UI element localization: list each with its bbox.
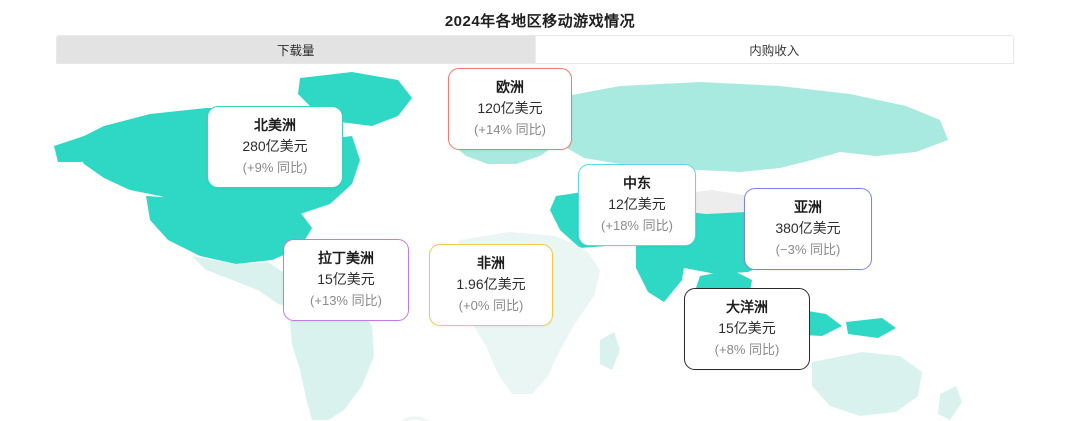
tab-iap-revenue[interactable]: 内购收入 (535, 36, 1014, 63)
region-card-north-america[interactable]: 北美洲 280亿美元 (+9% 同比) (207, 106, 343, 188)
region-value: 12亿美元 (593, 193, 681, 215)
region-name: 亚洲 (759, 197, 857, 217)
map-region-new-zealand (938, 386, 962, 420)
metric-tab-bar: 下载量 内购收入 (56, 35, 1014, 64)
world-map-container: SensorTower 北美洲 280亿美元 (+9% 同比) 欧洲 120亿美… (0, 64, 1080, 421)
map-region-new-guinea (846, 318, 896, 338)
region-delta: (+8% 同比) (699, 340, 795, 361)
map-region-india (636, 238, 686, 302)
region-name: 欧洲 (463, 77, 557, 97)
region-delta: (+0% 同比) (444, 296, 538, 317)
region-name: 中东 (593, 173, 681, 193)
region-card-latin-america[interactable]: 拉丁美洲 15亿美元 (+13% 同比) (283, 239, 409, 321)
region-card-europe[interactable]: 欧洲 120亿美元 (+14% 同比) (448, 68, 572, 150)
region-delta: (+18% 同比) (593, 216, 681, 237)
region-value: 1.96亿美元 (444, 273, 538, 295)
region-name: 拉丁美洲 (298, 248, 394, 268)
map-region-australia (812, 352, 922, 416)
region-value: 280亿美元 (222, 135, 328, 157)
region-delta: (+14% 同比) (463, 120, 557, 141)
region-delta: (+9% 同比) (222, 158, 328, 179)
region-card-asia[interactable]: 亚洲 380亿美元 (−3% 同比) (744, 188, 872, 270)
region-card-oceania[interactable]: 大洋洲 15亿美元 (+8% 同比) (684, 288, 810, 370)
region-name: 大洋洲 (699, 297, 795, 317)
region-value: 15亿美元 (699, 317, 795, 339)
region-value: 380亿美元 (759, 217, 857, 239)
region-value: 15亿美元 (298, 268, 394, 290)
region-name: 非洲 (444, 253, 538, 273)
map-region-russia (552, 82, 948, 172)
region-name: 北美洲 (222, 115, 328, 135)
region-delta: (+13% 同比) (298, 291, 394, 312)
region-card-africa[interactable]: 非洲 1.96亿美元 (+0% 同比) (429, 244, 553, 326)
region-card-middle-east[interactable]: 中东 12亿美元 (+18% 同比) (578, 164, 696, 246)
region-value: 120亿美元 (463, 97, 557, 119)
map-region-madagascar (600, 332, 620, 370)
page-title: 2024年各地区移动游戏情况 (0, 10, 1080, 31)
tab-downloads[interactable]: 下载量 (57, 36, 535, 63)
region-delta: (−3% 同比) (759, 240, 857, 261)
